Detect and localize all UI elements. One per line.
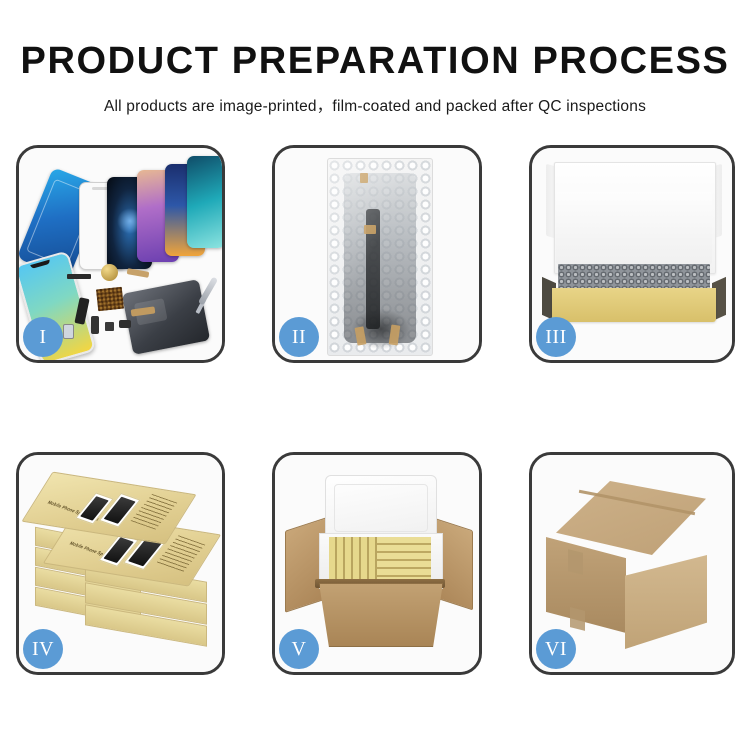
camera-module-graphic xyxy=(63,324,74,339)
step-badge-2: II xyxy=(279,317,319,357)
speaker-bar-graphic xyxy=(67,274,91,279)
grey-bubble-foam-graphic xyxy=(558,264,710,290)
phone-screen-teal-graphic xyxy=(187,156,222,248)
phone-back-housing-graphic xyxy=(122,279,210,355)
carton-left-face-graphic xyxy=(546,537,626,633)
styrofoam-lid-graphic xyxy=(325,475,437,539)
screwdriver-graphic xyxy=(198,277,218,306)
process-step-panel-1[interactable]: I xyxy=(16,145,225,363)
step-badge-5: V xyxy=(279,629,319,669)
step-badge-1: I xyxy=(23,317,63,357)
carton-front-graphic xyxy=(319,583,443,647)
process-step-grid: I II xyxy=(0,0,750,750)
process-step-panel-2[interactable]: II xyxy=(272,145,482,363)
carton-tape-lower-graphic xyxy=(570,607,585,631)
box-stack-graphic: Mobile Phone Spare Parts Mobile Phone Sp… xyxy=(33,479,219,651)
carton-tape-upper-graphic xyxy=(568,549,583,575)
small-part-1-graphic xyxy=(105,322,114,331)
carton-right-face-graphic xyxy=(625,555,707,649)
vibration-motor-graphic xyxy=(101,264,118,281)
bubble-wrap-bag-graphic xyxy=(327,158,433,356)
connector-grid-graphic xyxy=(96,287,124,312)
step-badge-3: III xyxy=(536,317,576,357)
process-step-panel-5[interactable]: V xyxy=(272,452,482,675)
kraft-box-front-graphic xyxy=(552,288,716,322)
flex-cable-1-graphic xyxy=(127,268,150,278)
bag-gloss-graphic xyxy=(328,159,432,355)
poster-root: PRODUCT PREPARATION PROCESS All products… xyxy=(0,0,750,750)
small-part-2-graphic xyxy=(119,320,131,328)
step-badge-4: IV xyxy=(23,629,63,669)
process-step-panel-3[interactable]: III xyxy=(529,145,735,363)
white-foam-sheet-graphic xyxy=(556,192,712,264)
flex-cable-4-graphic xyxy=(91,316,99,334)
process-step-panel-6[interactable]: VI xyxy=(529,452,735,675)
process-step-panel-4[interactable]: Mobile Phone Spare Parts Mobile Phone Sp… xyxy=(16,452,225,675)
packed-yellow-boxes-graphic xyxy=(329,537,431,581)
step-badge-6: VI xyxy=(536,629,576,669)
